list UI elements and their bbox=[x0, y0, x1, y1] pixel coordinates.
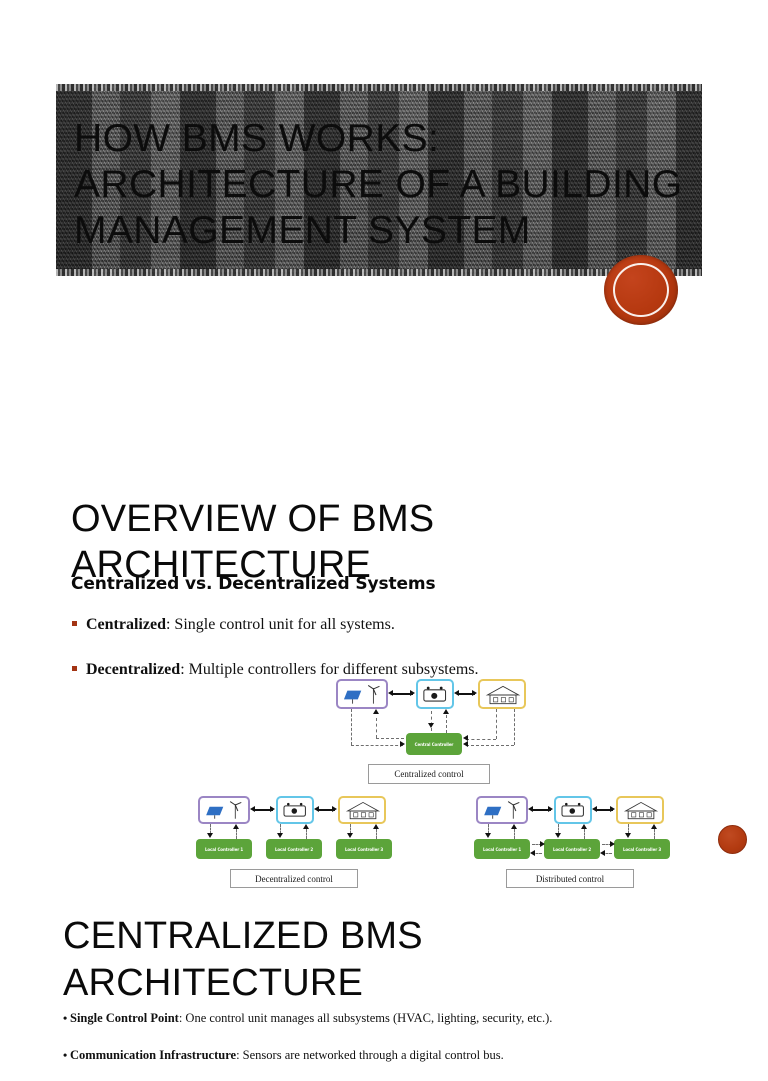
list-item: Centralized: Single control unit for all… bbox=[71, 614, 671, 636]
decorative-circle-icon bbox=[604, 255, 678, 325]
house-icon bbox=[478, 679, 526, 709]
bullet-term: Decentralized bbox=[86, 661, 180, 678]
decorative-circle-icon bbox=[718, 825, 747, 854]
bullet-term: Single Control Point bbox=[70, 1011, 179, 1025]
battery-icon bbox=[554, 796, 592, 824]
controller-label: Local Controller 2 bbox=[275, 847, 313, 852]
central-controller-node: Central Controller bbox=[406, 733, 462, 755]
local-controller-1-node: Local Controller 1 bbox=[196, 839, 252, 859]
battery-icon bbox=[276, 796, 314, 824]
house-icon bbox=[616, 796, 664, 824]
banner-edge-top bbox=[56, 84, 702, 91]
local-controller-3-node: Local Controller 3 bbox=[336, 839, 392, 859]
controller-label: Local Controller 1 bbox=[483, 847, 521, 852]
centralized-bullet-list: Single Control Point: One control unit m… bbox=[63, 993, 703, 1081]
list-item: Single Control Point: One control unit m… bbox=[63, 1006, 703, 1031]
solar-wind-icon bbox=[476, 796, 528, 824]
solar-wind-icon bbox=[336, 679, 388, 709]
battery-icon bbox=[416, 679, 454, 709]
slide-overview: Overview of BMS Architecture Centralized… bbox=[0, 340, 768, 875]
house-icon bbox=[338, 796, 386, 824]
controller-label: Central Controller bbox=[415, 742, 454, 747]
solar-wind-icon bbox=[198, 796, 250, 824]
local-controller-2-node: Local Controller 2 bbox=[544, 839, 600, 859]
local-controller-1-node: Local Controller 1 bbox=[474, 839, 530, 859]
overview-subheading: Centralized vs. Decentralized Systems bbox=[71, 574, 436, 594]
presentation-title: How BMS Works: Architecture of a Buildin… bbox=[74, 116, 684, 254]
controller-label: Local Controller 2 bbox=[553, 847, 591, 852]
slide-title: How BMS Works: Architecture of a Buildin… bbox=[0, 0, 768, 340]
list-item: Communication Infrastructure: Sensors ar… bbox=[63, 1043, 703, 1068]
controller-label: Local Controller 3 bbox=[345, 847, 383, 852]
bullet-text: : Sensors are networked through a digita… bbox=[236, 1048, 504, 1062]
controller-label: Local Controller 1 bbox=[205, 847, 243, 852]
diagram-caption: Centralized control bbox=[368, 764, 490, 784]
control-architecture-diagram: Central Controller Centralized control bbox=[188, 671, 660, 886]
controller-label: Local Controller 3 bbox=[623, 847, 661, 852]
bullet-text: : Single control unit for all systems. bbox=[166, 616, 395, 633]
bullet-term: Centralized bbox=[86, 616, 166, 633]
title-banner: How BMS Works: Architecture of a Buildin… bbox=[56, 84, 702, 276]
local-controller-3-node: Local Controller 3 bbox=[614, 839, 670, 859]
local-controller-2-node: Local Controller 2 bbox=[266, 839, 322, 859]
bullet-text: : One control unit manages all subsystem… bbox=[179, 1011, 553, 1025]
banner-edge-bottom bbox=[56, 269, 702, 276]
slide-centralized-architecture: Centralized BMS Architecture Single Cont… bbox=[0, 875, 768, 1024]
bullet-term: Communication Infrastructure bbox=[70, 1048, 236, 1062]
